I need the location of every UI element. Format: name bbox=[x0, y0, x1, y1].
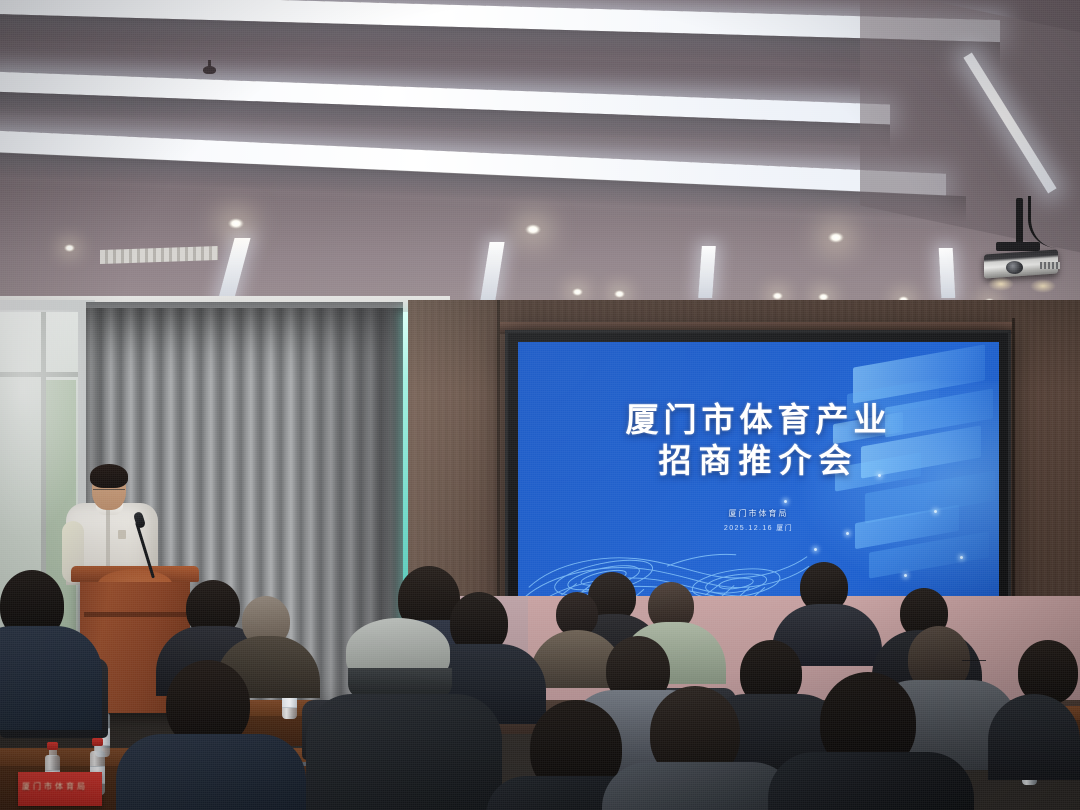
glasses-icon bbox=[962, 660, 986, 665]
presenter-badge bbox=[118, 530, 126, 539]
projector-mount-pole bbox=[1016, 198, 1023, 244]
ceiling-air-vent bbox=[100, 246, 218, 264]
shoulders bbox=[768, 752, 974, 810]
smoke-detector-icon bbox=[203, 66, 216, 74]
projector-vent bbox=[1040, 262, 1060, 269]
presentation-slide: 厦门市体育产业 招商推介会 厦门市体育局 2025.12.16 厦门 bbox=[518, 342, 999, 614]
presenter-hair bbox=[90, 464, 128, 488]
slide-sparkle-5 bbox=[814, 548, 817, 551]
ceiling-slot-light-4 bbox=[939, 248, 956, 298]
ceiling-downlight-10 bbox=[64, 244, 75, 252]
ceiling-downlight-5 bbox=[614, 290, 625, 298]
shoulders bbox=[116, 734, 306, 810]
projection-screen[interactable]: 厦门市体育产业 招商推介会 厦门市体育局 2025.12.16 厦门 bbox=[505, 330, 1011, 626]
slide-sparkle-6 bbox=[904, 574, 907, 577]
shoulders bbox=[988, 694, 1080, 780]
bottle-neck bbox=[94, 745, 102, 752]
projector-mount-arm bbox=[996, 242, 1040, 251]
desk-name-card-text: 厦门市体育局 bbox=[22, 781, 98, 792]
ceiling-downlight-2 bbox=[525, 224, 541, 235]
slide-sparkle-4 bbox=[960, 556, 963, 559]
slide-sparkle-7 bbox=[784, 500, 787, 503]
ceiling bbox=[0, 0, 1080, 330]
ceiling-slot-light-1 bbox=[217, 238, 250, 302]
conference-room-photo: 厦门市体育产业 招商推介会 厦门市体育局 2025.12.16 厦门 bbox=[0, 0, 1080, 810]
slide-title: 厦门市体育产业 招商推介会 bbox=[518, 399, 999, 481]
bottle-cap bbox=[47, 742, 58, 750]
ceiling-downlight-6 bbox=[772, 292, 783, 300]
shoulders bbox=[306, 694, 502, 810]
ceiling-downlight-1 bbox=[228, 218, 244, 229]
projector-indicator-glow-2 bbox=[1030, 279, 1056, 293]
bottle-neck bbox=[49, 749, 57, 756]
podium-arch-detail bbox=[90, 566, 180, 582]
bottle-cap bbox=[92, 738, 103, 746]
podium-trim-band bbox=[84, 612, 186, 617]
slide-title-line2: 招商推介会 bbox=[518, 440, 999, 481]
slide-date-location: 2025.12.16 厦门 bbox=[518, 523, 999, 533]
wood-panel-seam-2 bbox=[1012, 318, 1015, 610]
projector-lens-icon bbox=[1006, 261, 1023, 274]
slide-organization: 厦门市体育局 bbox=[518, 508, 999, 519]
desk-name-card: 厦门市体育局 bbox=[18, 772, 102, 806]
glasses-icon bbox=[93, 489, 125, 496]
shoulders bbox=[0, 626, 102, 730]
ceiling-slot-light-2 bbox=[480, 242, 504, 300]
ceiling-slot-light-3 bbox=[698, 246, 716, 298]
ceiling-downlight-3 bbox=[828, 232, 844, 243]
projector-indicator-glow bbox=[988, 277, 1014, 291]
ceiling-downlight-4 bbox=[572, 288, 583, 296]
slide-title-line1: 厦门市体育产业 bbox=[518, 399, 999, 440]
